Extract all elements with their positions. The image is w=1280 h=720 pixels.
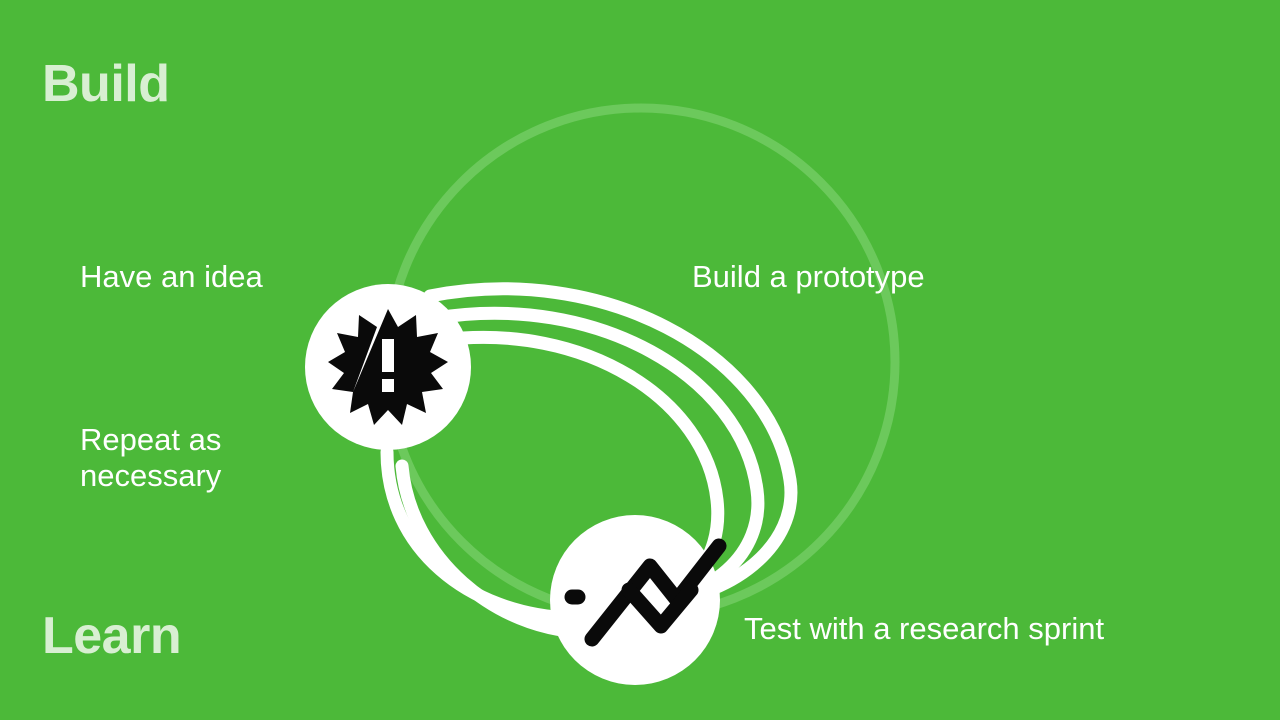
slide-canvas: Build Learn Have an idea Build a prototy… [0,0,1280,720]
node-idea[interactable] [305,284,471,450]
exclamation-dot [382,379,394,392]
exclamation-stem [382,339,394,372]
step-label-have-an-idea: Have an idea [80,259,263,295]
phase-label-build: Build [42,58,169,110]
step-label-build-a-prototype: Build a prototype [692,259,925,295]
step-label-repeat-as-necessary: Repeat as necessary [80,422,221,494]
node-test[interactable] [550,515,720,685]
phase-label-learn: Learn [42,610,181,662]
step-label-test-with-a-research-sprint: Test with a research sprint [744,611,1104,647]
